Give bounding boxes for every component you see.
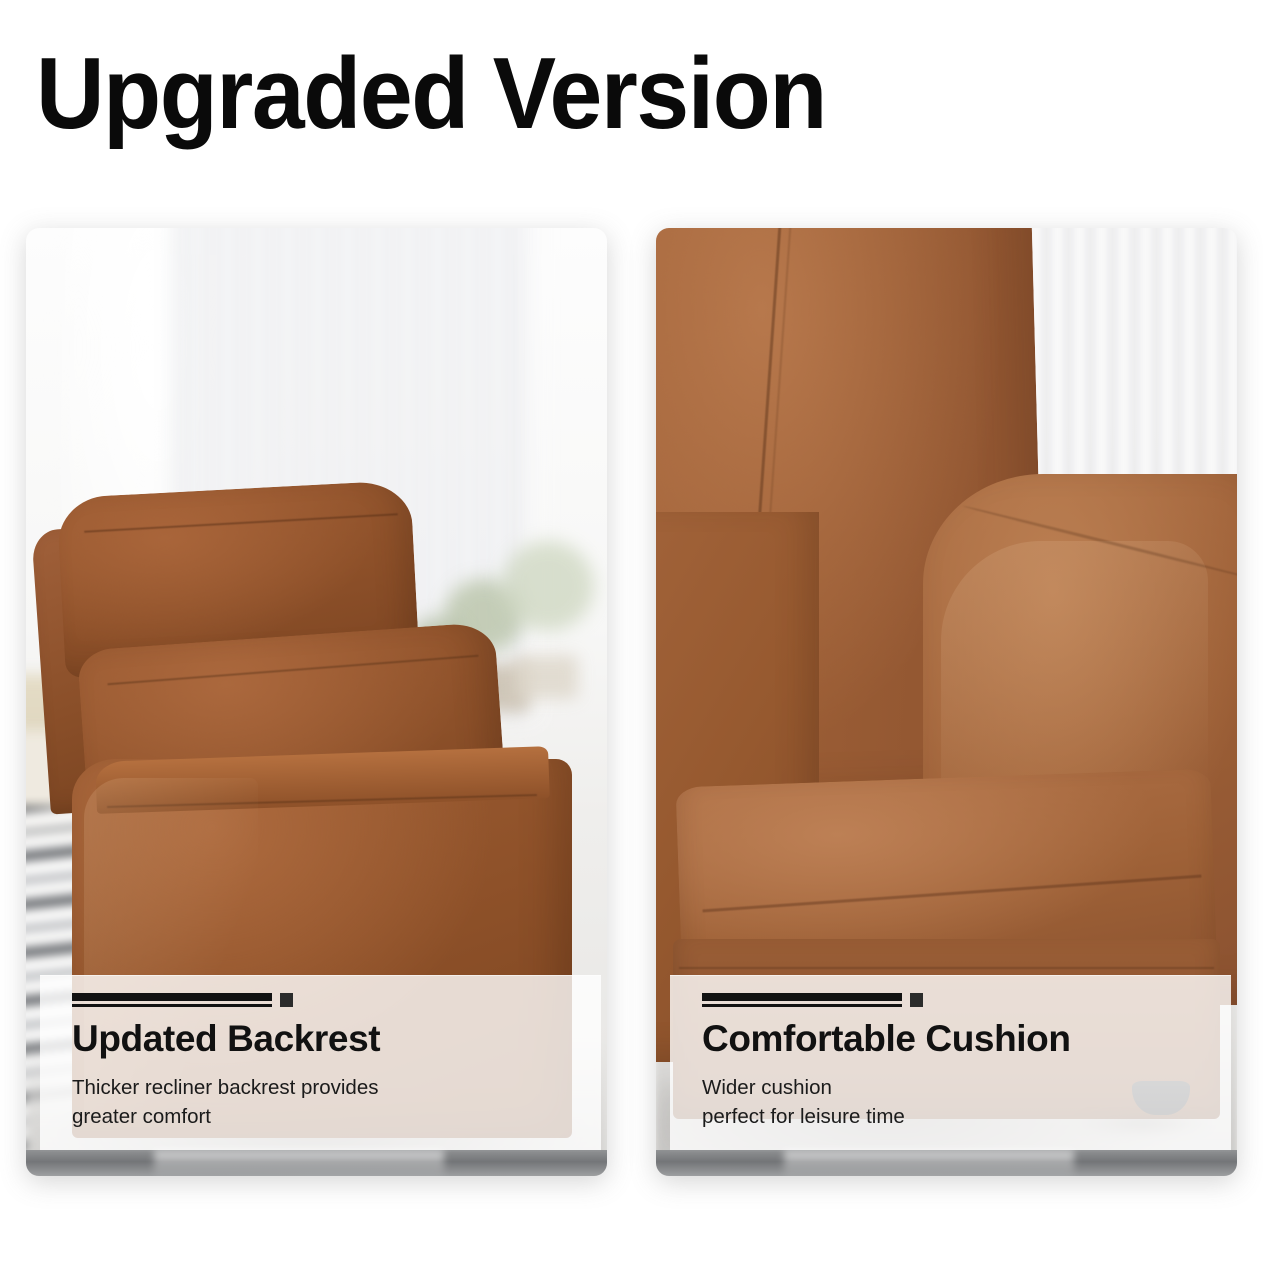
- panel-bottom-glow: [784, 1150, 1075, 1176]
- caption-card-cushion: Comfortable Cushion Wider cushion perfec…: [670, 975, 1231, 1152]
- rule-square-accent: [280, 993, 293, 1007]
- decorative-rule: [702, 993, 1231, 1007]
- rule-square-accent: [910, 993, 923, 1007]
- caption-card-backrest: Updated Backrest Thicker recliner backre…: [40, 975, 601, 1152]
- base-stitch-seam: [679, 967, 1214, 969]
- feature-panel-backrest: Updated Backrest Thicker recliner backre…: [26, 228, 607, 1176]
- caption-title: Updated Backrest: [72, 1019, 601, 1059]
- caption-body-line-1: Thicker recliner backrest provides: [72, 1073, 601, 1103]
- caption-title: Comfortable Cushion: [702, 1019, 1231, 1059]
- decorative-rule: [72, 993, 601, 1007]
- feature-panel-group: Updated Backrest Thicker recliner backre…: [0, 0, 1263, 1263]
- caption-body-line-2: perfect for leisure time: [702, 1102, 1231, 1132]
- rule-thin-bar: [702, 1004, 902, 1007]
- caption-body-line-1: Wider cushion: [702, 1073, 1231, 1103]
- rule-thin-bar: [72, 1004, 272, 1007]
- caption-body-line-2: greater comfort: [72, 1102, 601, 1132]
- rule-thick-bar: [72, 993, 272, 1001]
- caption-body: Wider cushion perfect for leisure time: [702, 1073, 1231, 1132]
- panel-bottom-glow: [154, 1150, 445, 1176]
- caption-body: Thicker recliner backrest provides great…: [72, 1073, 601, 1132]
- feature-panel-cushion: Comfortable Cushion Wider cushion perfec…: [656, 228, 1237, 1176]
- rule-thick-bar: [702, 993, 902, 1001]
